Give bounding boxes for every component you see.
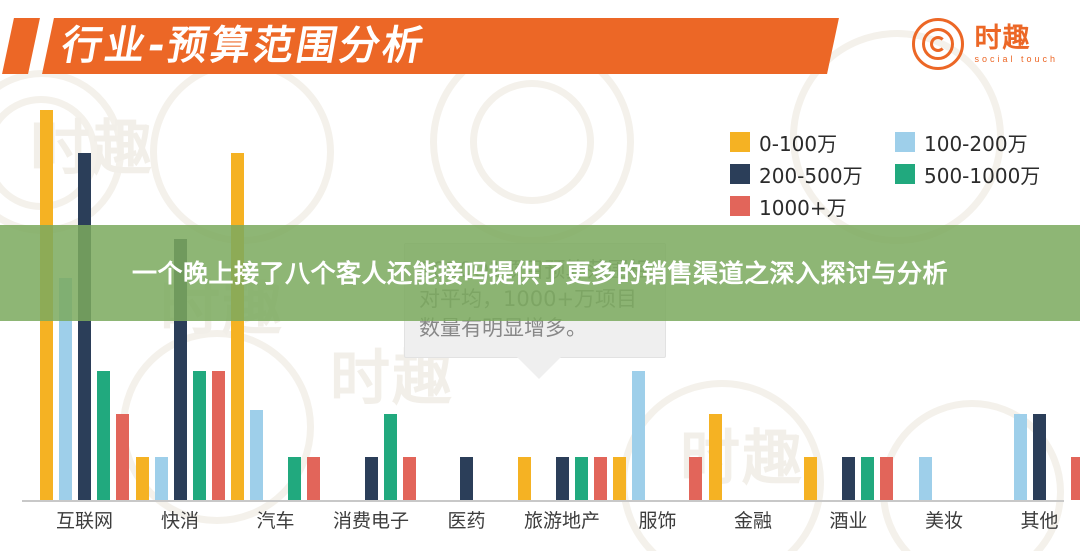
chart-legend: 0-100万100-200万200-500万500-1000万1000+万 (730, 126, 1060, 222)
legend-item[interactable]: 100-200万 (895, 126, 1060, 158)
x-axis-labels: 互联网快消汽车消费电子医药旅游地产服饰金融酒业美妆其他 (0, 506, 1080, 546)
bar[interactable] (594, 457, 607, 500)
header-accent-chip (2, 18, 40, 74)
bar[interactable] (1014, 414, 1027, 500)
header-banner: 行业-预算范围分析 时趣 social touch (0, 0, 1080, 88)
legend-item[interactable]: 0-100万 (730, 126, 895, 158)
bar[interactable] (460, 457, 473, 500)
bar[interactable] (384, 414, 397, 500)
bar[interactable] (231, 153, 244, 500)
target-rings-icon (912, 18, 964, 70)
legend-swatch-icon (730, 164, 750, 184)
bar[interactable] (78, 153, 91, 500)
bar[interactable] (689, 457, 702, 500)
page-title: 行业-预算范围分析 (57, 19, 430, 75)
brand-logo: 时趣 social touch (912, 18, 1058, 70)
legend-item[interactable]: 200-500万 (730, 158, 895, 190)
bar[interactable] (556, 457, 569, 500)
legend-swatch-icon (895, 164, 915, 184)
bar[interactable] (193, 371, 206, 500)
legend-item-label: 0-100万 (759, 128, 837, 157)
legend-item-label: 200-500万 (759, 160, 863, 189)
bar[interactable] (804, 457, 817, 500)
callout-arrow-icon (517, 357, 561, 379)
legend-swatch-icon (730, 196, 750, 216)
bar[interactable] (116, 414, 129, 500)
legend-item-label: 100-200万 (924, 128, 1028, 157)
bar[interactable] (575, 457, 588, 500)
bar[interactable] (1071, 457, 1080, 500)
bar[interactable] (842, 457, 855, 500)
bar[interactable] (632, 371, 645, 500)
bar[interactable] (613, 457, 626, 500)
brand-name-en: social touch (974, 55, 1058, 64)
bar[interactable] (518, 457, 531, 500)
bar[interactable] (403, 457, 416, 500)
legend-item[interactable]: 1000+万 (730, 190, 895, 222)
bar[interactable] (155, 457, 168, 500)
legend-swatch-icon (730, 132, 750, 152)
legend-item[interactable]: 500-1000万 (895, 158, 1060, 190)
brand-logo-text: 时趣 social touch (974, 25, 1058, 64)
bar[interactable] (288, 457, 301, 500)
overlay-banner-text: 一个晚上接了八个客人还能接吗提供了更多的销售渠道之深入探讨与分析 (70, 257, 1010, 290)
bar[interactable] (861, 457, 874, 500)
bar[interactable] (919, 457, 932, 500)
bar[interactable] (709, 414, 722, 500)
brand-name-cn: 时趣 (974, 25, 1058, 52)
legend-item-label: 500-1000万 (924, 160, 1040, 189)
bar[interactable] (212, 371, 225, 500)
bar[interactable] (880, 457, 893, 500)
legend-item-label: 1000+万 (759, 192, 847, 221)
bar[interactable] (136, 457, 149, 500)
x-axis-line (22, 500, 1064, 502)
legend-swatch-icon (895, 132, 915, 152)
x-axis-label: 其他 (980, 506, 1080, 533)
bar[interactable] (307, 457, 320, 500)
chart-page: 时趣 时趣 时趣 时趣 行业-预算范围分析 时趣 social touch 0-… (0, 0, 1080, 551)
overlay-banner: 一个晚上接了八个客人还能接吗提供了更多的销售渠道之深入探讨与分析 (0, 225, 1080, 321)
bar[interactable] (365, 457, 378, 500)
bar[interactable] (250, 410, 263, 500)
bar[interactable] (97, 371, 110, 500)
bar[interactable] (1033, 414, 1046, 500)
